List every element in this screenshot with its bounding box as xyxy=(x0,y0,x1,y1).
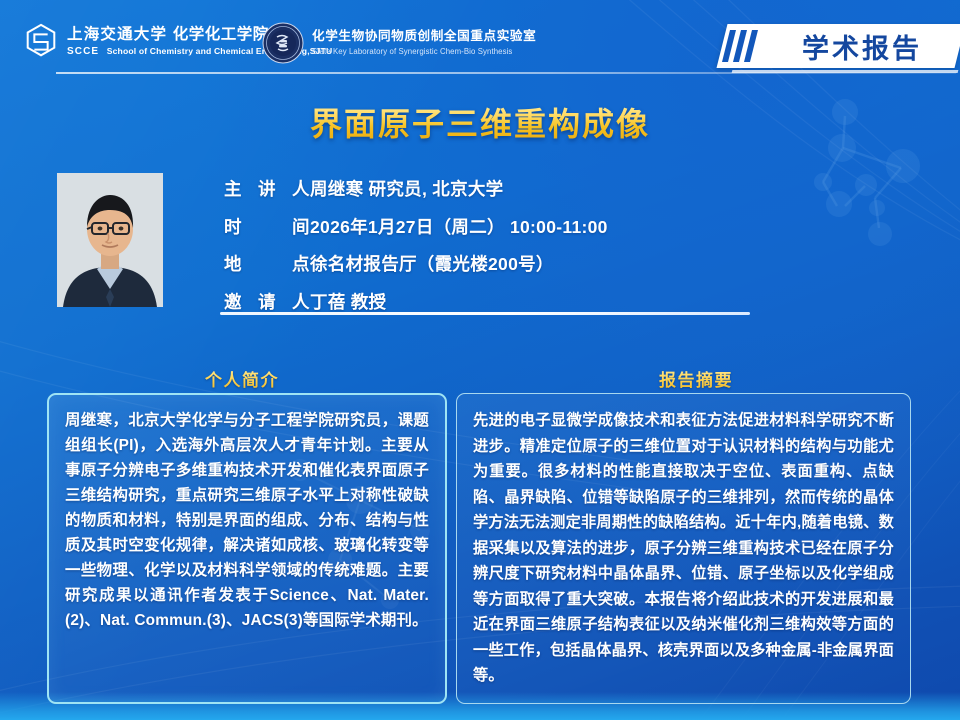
info-value-host: 丁蓓 教授 xyxy=(310,289,386,314)
header-divider xyxy=(56,72,956,74)
sjtu-abbr: SCCE xyxy=(67,46,99,57)
sjtu-school-name: 化学化工学院 xyxy=(173,26,269,43)
info-row-speaker: 主 讲 人 周继寒 研究员, 北京大学 xyxy=(224,176,844,201)
abstract-section-heading: 报告摘要 xyxy=(659,366,733,391)
info-value-time: 2026年1月27日（周二） 10:00-11:00 xyxy=(310,214,608,239)
info-value-speaker: 周继寒 研究员, 北京大学 xyxy=(310,176,504,201)
lab-english-name: State Key Laboratory of Synergistic Chem… xyxy=(312,47,536,57)
academic-report-ribbon: 学术报告 xyxy=(698,24,960,72)
info-row-location: 地 点 徐名材报告厅（霞光楼200号） xyxy=(224,251,844,276)
info-label-speaker: 主 讲 人 xyxy=(224,176,310,201)
info-label-location: 地 点 xyxy=(224,251,310,276)
hexagon-s-mark-icon xyxy=(22,22,60,62)
state-key-lab-logo: 化学生物协同物质创制全国重点实验室 State Key Laboratory o… xyxy=(262,22,536,64)
lab-chinese-name: 化学生物协同物质创制全国重点实验室 xyxy=(312,29,536,44)
info-label-time: 时 间 xyxy=(224,214,310,239)
speaker-portrait xyxy=(57,173,163,307)
info-value-location: 徐名材报告厅（霞光楼200号） xyxy=(310,251,554,276)
ribbon-label: 学术报告 xyxy=(782,24,942,68)
page-title: 界面原子三维重构成像 xyxy=(0,99,960,145)
abstract-text-box: 先进的电子显微学成像技术和表征方法促进材料科学研究不断进步。精准定位原子的三维位… xyxy=(456,393,911,704)
header-bar: 上海交通大学 化学化工学院 SCCE School of Chemistry a… xyxy=(0,0,960,84)
info-divider xyxy=(220,312,750,315)
sjtu-university-name: 上海交通大学 xyxy=(67,26,167,43)
poster-root: 上海交通大学 化学化工学院 SCCE School of Chemistry a… xyxy=(0,0,960,720)
bio-text-box: 周继寒，北京大学化学与分子工程学院研究员，课题组组长(PI)，入选海外高层次人才… xyxy=(47,393,447,704)
speaker-photo-illustration xyxy=(57,173,163,307)
seminar-info-block: 主 讲 人 周继寒 研究员, 北京大学 时 间 2026年1月27日（周二） 1… xyxy=(224,176,844,326)
info-row-host: 邀 请 人 丁蓓 教授 xyxy=(224,289,844,314)
info-label-host: 邀 请 人 xyxy=(224,289,310,314)
info-row-time: 时 间 2026年1月27日（周二） 10:00-11:00 xyxy=(224,214,844,239)
bio-section-heading: 个人简介 xyxy=(205,366,279,391)
lab-seal-icon xyxy=(262,22,304,64)
